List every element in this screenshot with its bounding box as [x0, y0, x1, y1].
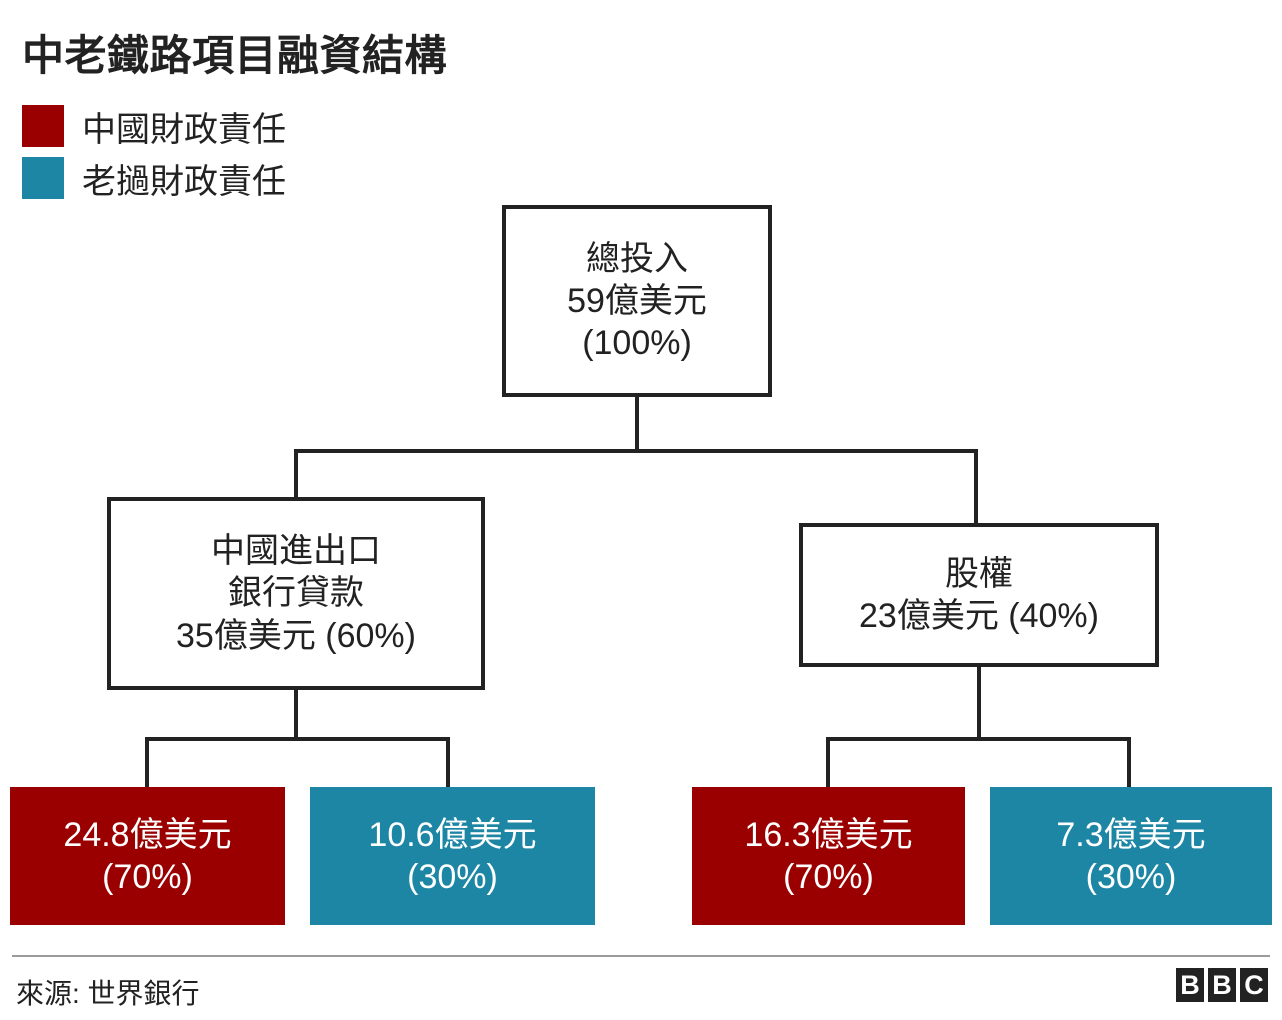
node-equity-china-percent: (70%) — [783, 856, 874, 898]
node-total-line3: (100%) — [582, 322, 692, 364]
legend-label-laos: 老撾財政責任 — [82, 154, 286, 203]
node-loan-laos-percent: (30%) — [407, 856, 498, 898]
bbc-logo: B B C — [1176, 968, 1268, 1002]
bbc-logo-letter-2: B — [1208, 968, 1236, 1002]
connector-loan-to-china — [145, 737, 149, 789]
connector-total-to-equity — [974, 449, 978, 525]
footer-divider — [12, 955, 1270, 957]
node-equity-line2: 23億美元 (40%) — [859, 595, 1099, 637]
node-exim-bank-loan: 中國進出口 銀行貸款 35億美元 (60%) — [107, 497, 485, 690]
node-equity-laos-percent: (30%) — [1086, 856, 1177, 898]
connector-equity-to-laos — [1127, 737, 1131, 789]
node-loan-laos-amount: 10.6億美元 — [368, 814, 536, 856]
legend-label-china: 中國財政責任 — [82, 102, 286, 151]
node-loan-line1: 中國進出口 — [211, 530, 381, 572]
node-equity-china-share: 16.3億美元 (70%) — [692, 787, 965, 925]
source-text: 來源: 世界銀行 — [16, 972, 200, 1012]
connector-loan-to-laos — [446, 737, 450, 789]
connector-equity-bar — [826, 737, 1131, 741]
node-total-line1: 總投入 — [586, 238, 688, 280]
node-equity: 股權 23億美元 (40%) — [799, 523, 1159, 667]
connector-total-stem — [635, 397, 639, 451]
connector-loan-bar — [145, 737, 450, 741]
connector-loan-stem — [294, 690, 298, 740]
node-total-line2: 59億美元 — [567, 280, 707, 322]
legend-item-laos: 老撾財政責任 — [22, 152, 286, 204]
node-equity-laos-share: 7.3億美元 (30%) — [990, 787, 1272, 925]
legend: 中國財政責任 老撾財政責任 — [22, 100, 286, 204]
connector-equity-stem — [977, 667, 981, 741]
node-total-investment: 總投入 59億美元 (100%) — [502, 205, 772, 397]
legend-item-china: 中國財政責任 — [22, 100, 286, 152]
node-loan-line2: 銀行貸款 — [228, 572, 364, 614]
node-loan-line3: 35億美元 (60%) — [176, 615, 416, 657]
connector-equity-to-china — [826, 737, 830, 789]
connector-total-to-loan — [294, 449, 298, 499]
node-loan-laos-share: 10.6億美元 (30%) — [310, 787, 595, 925]
node-equity-china-amount: 16.3億美元 — [744, 814, 912, 856]
node-loan-china-percent: (70%) — [102, 856, 193, 898]
node-equity-line1: 股權 — [945, 553, 1013, 595]
connector-total-bar — [294, 449, 978, 453]
legend-swatch-laos — [22, 157, 64, 199]
page-title: 中老鐵路項目融資結構 — [22, 22, 447, 83]
node-loan-china-share: 24.8億美元 (70%) — [10, 787, 285, 925]
bbc-logo-letter-1: B — [1176, 968, 1204, 1002]
infographic-canvas: 中老鐵路項目融資結構 中國財政責任 老撾財政責任 總投入 59億美元 (100%… — [0, 0, 1282, 1020]
node-loan-china-amount: 24.8億美元 — [63, 814, 231, 856]
legend-swatch-china — [22, 105, 64, 147]
node-equity-laos-amount: 7.3億美元 — [1056, 814, 1205, 856]
bbc-logo-letter-3: C — [1240, 968, 1268, 1002]
